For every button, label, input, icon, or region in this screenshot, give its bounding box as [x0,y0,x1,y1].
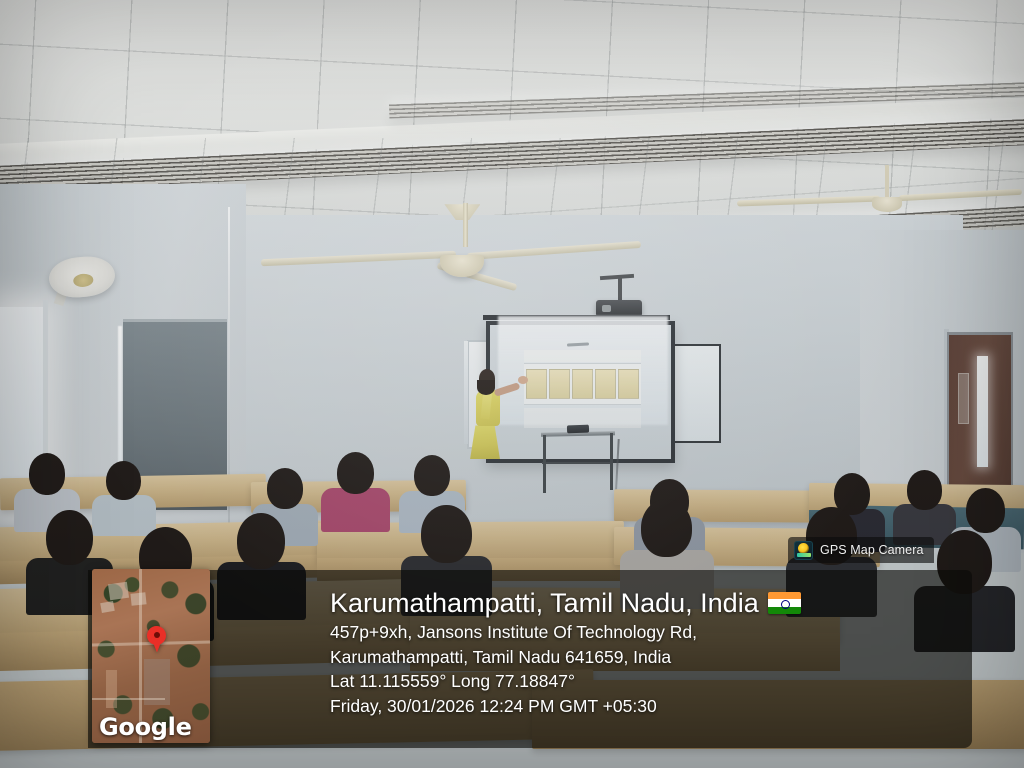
ashoka-chakra-icon [781,600,790,609]
audience-member [98,461,149,527]
slide-card [526,369,547,399]
door-vision-panel [977,356,988,467]
location-title-row: Karumathampatti, Tamil Nadu, India [330,586,970,620]
audience-member-head [907,470,942,510]
gps-map-camera-label: GPS Map Camera [820,543,924,557]
pin-tail [151,637,163,652]
google-watermark: Google [99,713,192,741]
ceiling-fan-2-hub [872,197,902,212]
address-line-2: Karumathampatti, Tamil Nadu 641659, Indi… [330,645,970,670]
table-leg [543,435,546,493]
slide-card-row [524,363,641,404]
laptop-icon [567,425,589,434]
audience-member-head [966,488,1005,532]
projector-pole [618,276,622,302]
gps-map-camera-app-icon [794,541,813,560]
slide-card [595,369,616,399]
door-push-plate [958,373,968,424]
ceiling-fan-downrod [463,203,468,247]
audience-member-head [641,499,693,557]
audience-member-head [421,505,471,563]
coordinates-line: Lat 11.115559° Long 77.18847° [330,669,970,694]
whiteboard-right [670,344,721,443]
map-pin-icon [147,626,166,652]
whiteboard-pen-tray [464,341,468,444]
address-line-1: 457p+9xh, Jansons Institute Of Technolog… [330,620,970,645]
timestamp-line: Friday, 30/01/2026 12:24 PM GMT +05:30 [330,694,970,719]
audience-member-head [337,452,375,494]
app-icon-accent-bar [797,553,811,557]
india-flag-icon [768,592,801,614]
gps-map-camera-badge: GPS Map Camera [788,537,934,563]
audience-member-head [414,455,450,496]
map-building [106,670,117,708]
slide-card [549,369,570,399]
screenshot-root: GPS Map Camera Google Karumathampatti, T… [0,0,1024,768]
audience-member-head [237,513,286,569]
slide-pointer-mark [567,342,589,346]
audience-member-torso [321,488,390,532]
gps-info-text: Karumathampatti, Tamil Nadu, India 457p+… [330,586,970,718]
audience-member-head [106,461,141,501]
table-rail [542,462,614,464]
slide-card [572,369,593,399]
slide-title-band [524,350,641,362]
flag-stripe-saffron [768,592,801,599]
audience-member-head [29,453,65,494]
slide-card [618,369,639,399]
gps-map-thumbnail[interactable]: Google [92,569,210,743]
map-building [108,582,129,600]
location-title: Karumathampatti, Tamil Nadu, India [330,586,759,620]
audience-member-head [267,468,303,509]
audience-member-head [46,510,93,565]
audience-member [328,452,383,523]
audience-member [899,470,950,536]
map-road [92,698,165,701]
ceiling-fan-2-downrod [885,165,889,197]
